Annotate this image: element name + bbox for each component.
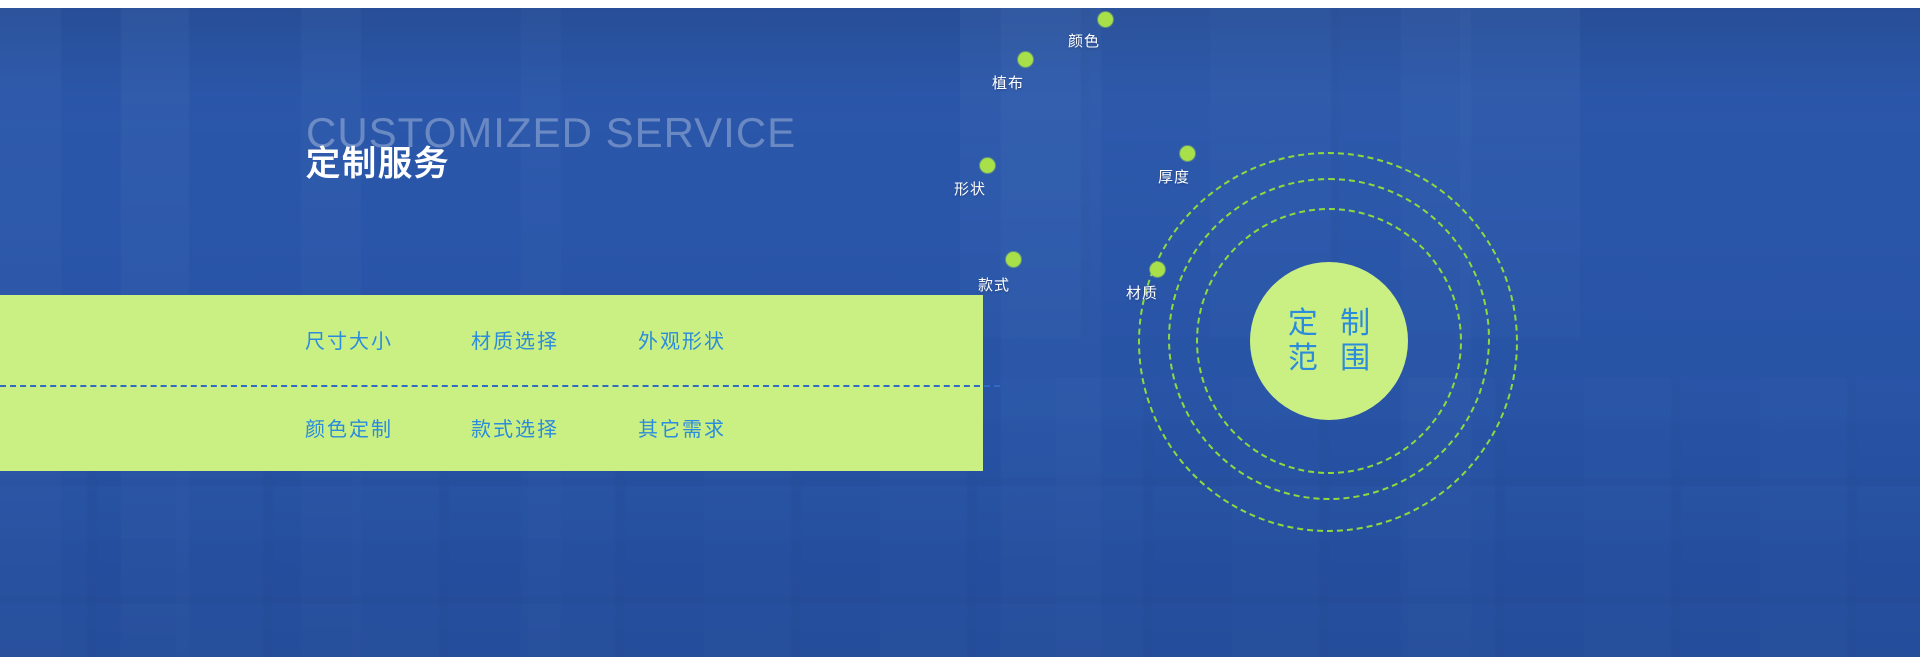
orbit-node-label: 厚度 (1158, 166, 1190, 187)
orbit-node-label: 颜色 (1068, 30, 1100, 51)
orbit-node-label: 款式 (978, 274, 1010, 295)
orbit-dot-icon (980, 158, 995, 173)
option-appearance-shape[interactable]: 外观形状 (638, 325, 726, 354)
orbit-core: 定 制 范 围 (1250, 262, 1408, 420)
orbit-node-label: 植布 (992, 72, 1024, 93)
orbit-node-label: 材质 (1126, 282, 1158, 303)
orbit-dot-icon (1150, 262, 1165, 277)
orbit-diagram: 定 制 范 围 颜色 植布 形状 款式 材质 厚度 (1178, 182, 1478, 482)
orbit-dot-icon (1180, 146, 1195, 161)
option-other-requirements[interactable]: 其它需求 (638, 413, 726, 442)
orbit-node-label: 形状 (954, 178, 986, 199)
orbit-core-line-1: 定 制 (1281, 306, 1377, 341)
banner-stage: CUSTOMIZED SERVICE 定制服务 尺寸大小 材质选择 外观形状 颜… (0, 8, 1920, 657)
title-chinese: 定制服务 (306, 136, 450, 185)
orbit-dot-icon (1018, 52, 1033, 67)
options-panel: 尺寸大小 材质选择 外观形状 颜色定制 款式选择 其它需求 (0, 295, 983, 471)
top-white-strip (0, 0, 1920, 8)
options-row-2: 颜色定制 款式选择 其它需求 (0, 383, 983, 471)
option-style-selection[interactable]: 款式选择 (471, 413, 559, 442)
orbit-dot-icon (1098, 12, 1113, 27)
option-size[interactable]: 尺寸大小 (305, 325, 393, 354)
option-color-customization[interactable]: 颜色定制 (305, 413, 393, 442)
options-row-1: 尺寸大小 材质选择 外观形状 (0, 295, 983, 383)
orbit-dot-icon (1006, 252, 1021, 267)
orbit-core-line-2: 范 围 (1281, 341, 1377, 376)
option-material-selection[interactable]: 材质选择 (471, 325, 559, 354)
